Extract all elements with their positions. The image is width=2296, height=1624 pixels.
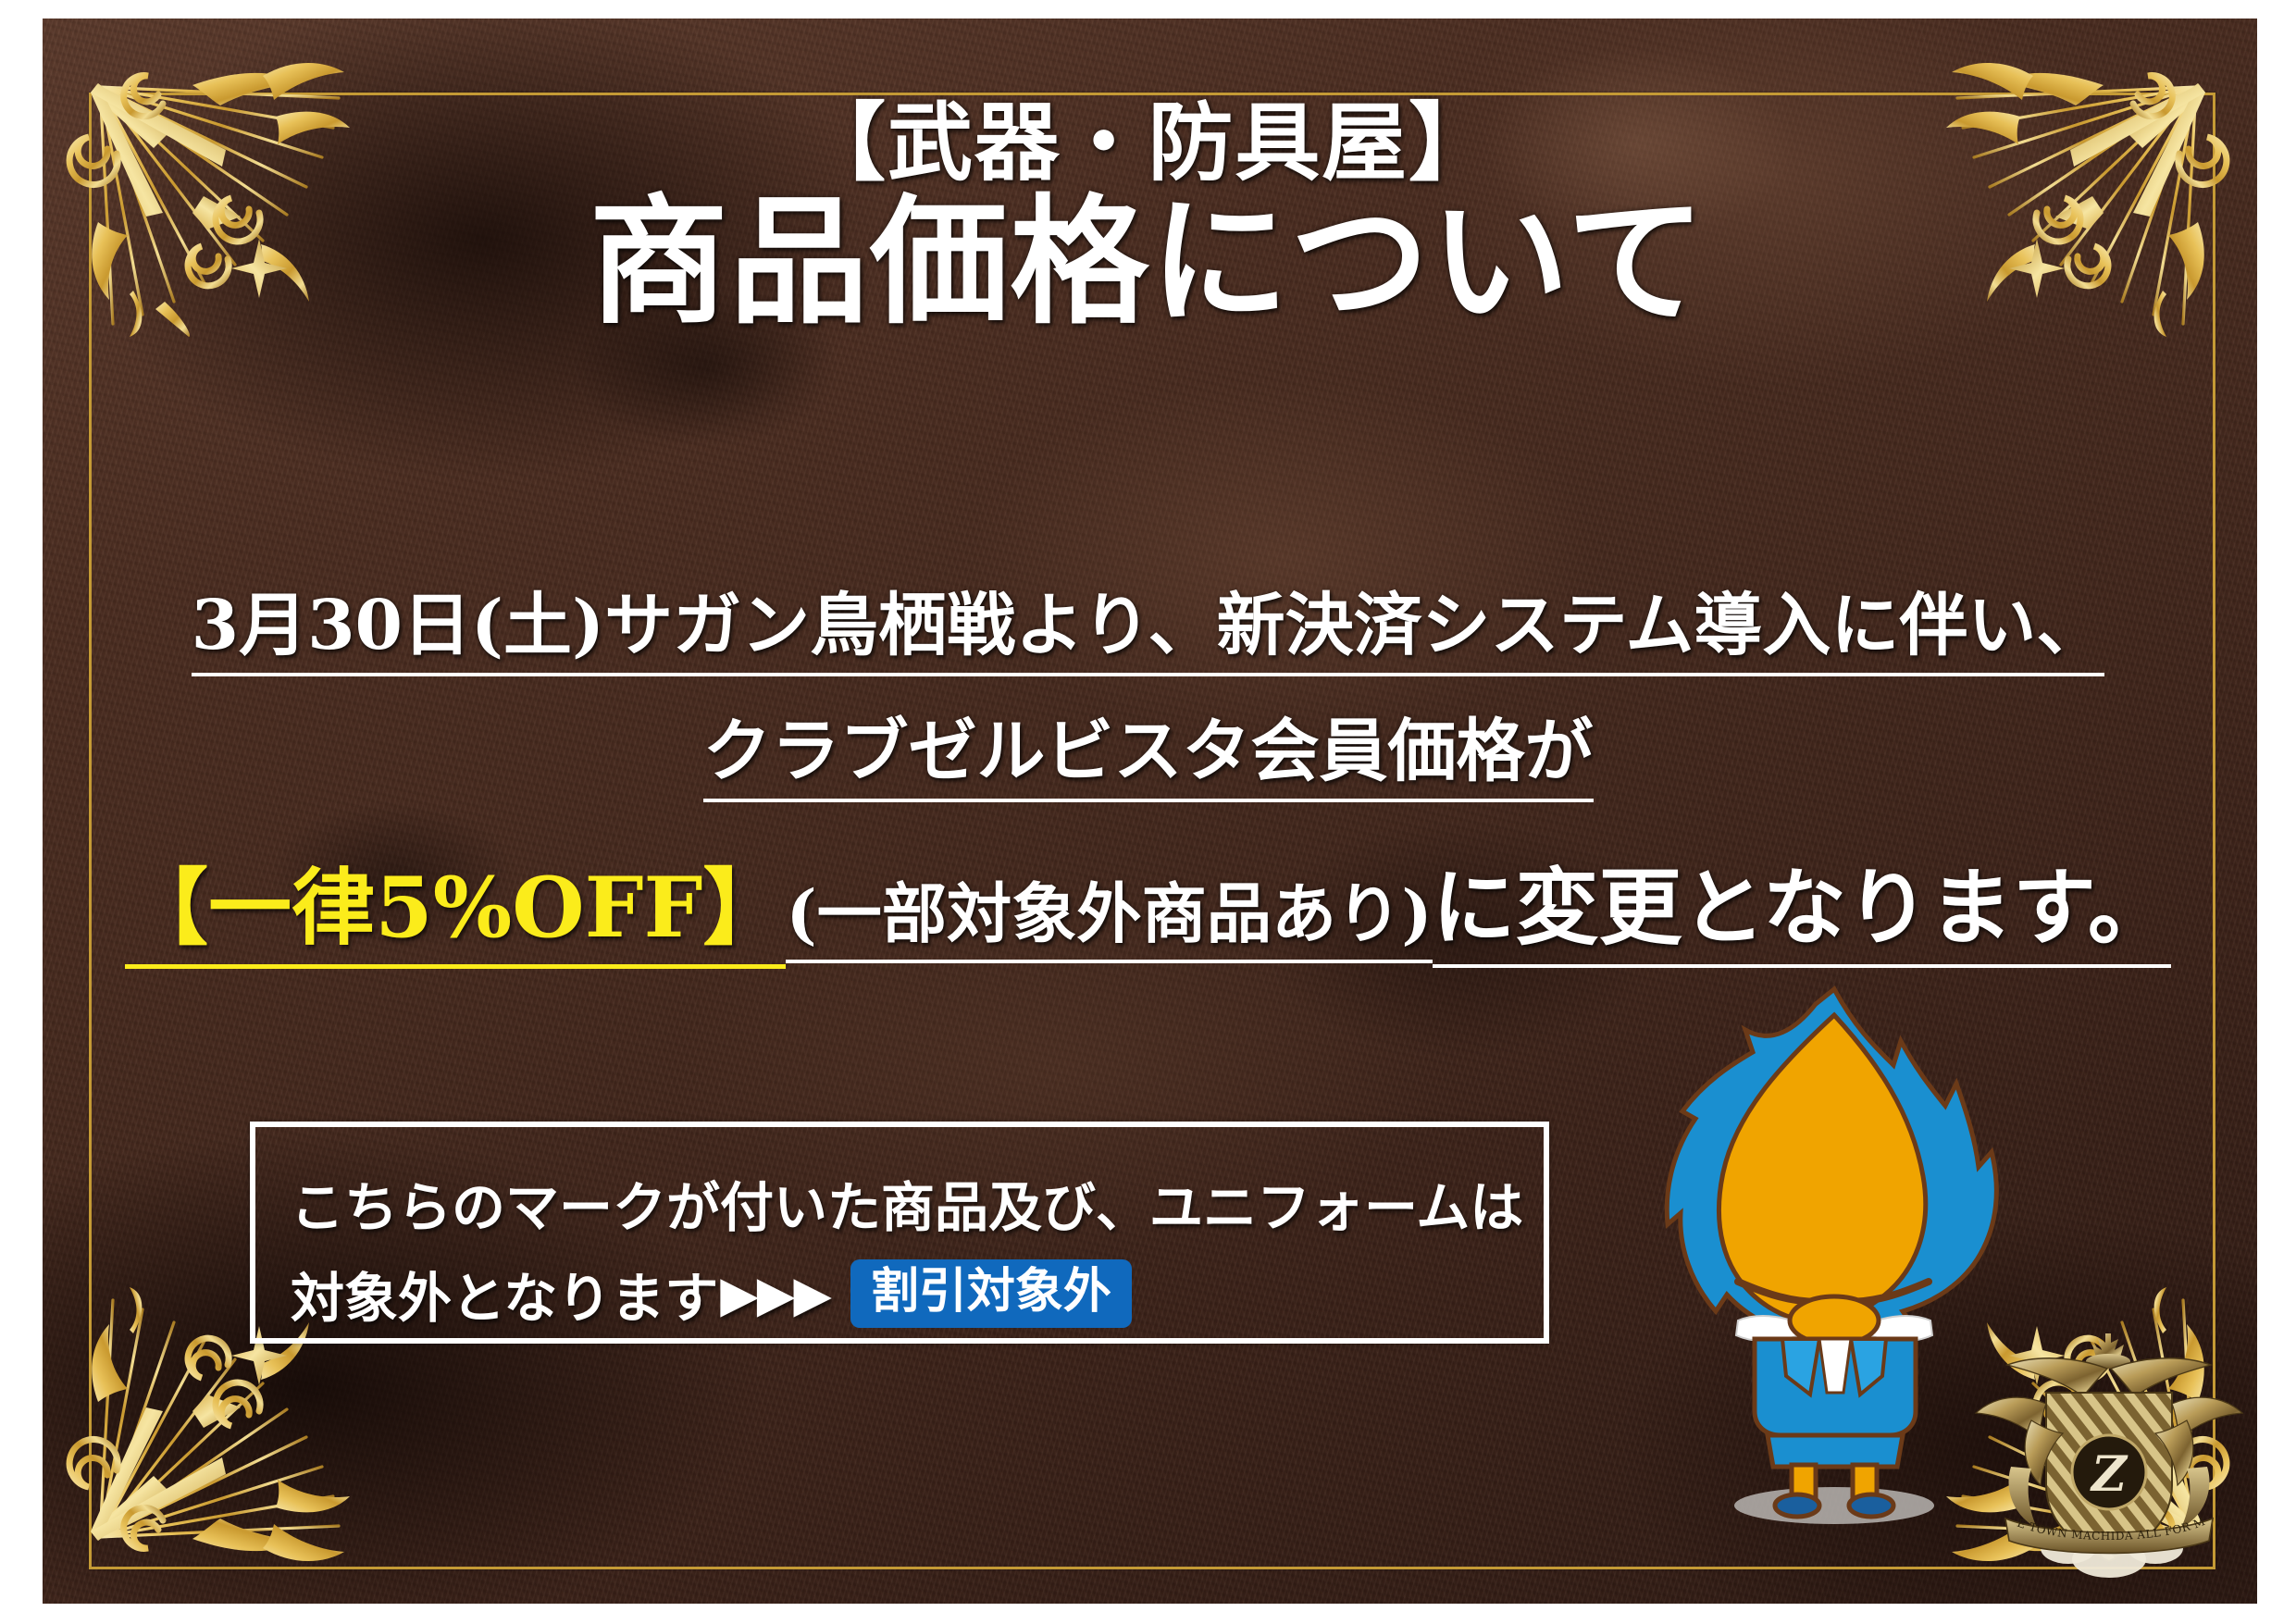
status-badge-discount-excluded: 割引対象外 <box>850 1259 1132 1329</box>
notice-line-1-text: 3月30日(土)サガン鳥栖戦より、新決済システム導入に伴い、 <box>192 570 2105 676</box>
triangle-right-arrows-icon: ▶▶▶ <box>720 1264 830 1323</box>
notice-line-2-text: クラブゼルビスタ会員価格が <box>703 696 1594 802</box>
notice-line-2: クラブゼルビスタ会員価格が <box>0 696 2296 802</box>
edge-top <box>0 0 2296 19</box>
club-crest-emblem: Z MY HOME TOWN MACHIDA ALL FOR MACHIDA <box>1967 1328 2263 1596</box>
crest-monogram: Z <box>2090 1446 2128 1503</box>
notice-line-3: 【一律5%OFF】(一部対象外商品あり) に変更となります。 <box>0 840 2296 969</box>
page-title: 商品価格について <box>0 192 2296 331</box>
exclusion-note-line-2: 対象外となります▶▶▶割引対象外 <box>291 1255 1132 1333</box>
discount-highlight: 【一律5%OFF】 <box>125 840 786 969</box>
exclusion-note-line-2-text: 対象外となります <box>291 1255 718 1333</box>
edge-right <box>2257 0 2296 1624</box>
edge-bottom <box>0 1604 2296 1624</box>
exclusion-note-box: こちらのマークが付いた商品及び、ユニフォームは 対象外となります▶▶▶割引対象外 <box>250 1122 1549 1344</box>
notice-line-1: 3月30日(土)サガン鳥栖戦より、新決済システム導入に伴い、 <box>0 570 2296 676</box>
discount-tail-text: に変更となります。 <box>1433 840 2171 968</box>
discount-exception-note: (一部対象外商品あり) <box>786 862 1432 963</box>
shop-category-title: 【武器・防具屋】 <box>0 100 2296 185</box>
poster-root: 【武器・防具屋】 商品価格について 3月30日(土)サガン鳥栖戦より、新決済シス… <box>0 0 2296 1624</box>
edge-left <box>0 0 43 1624</box>
exclusion-note-line-1: こちらのマークが付いた商品及び、ユニフォームは <box>291 1164 1523 1242</box>
